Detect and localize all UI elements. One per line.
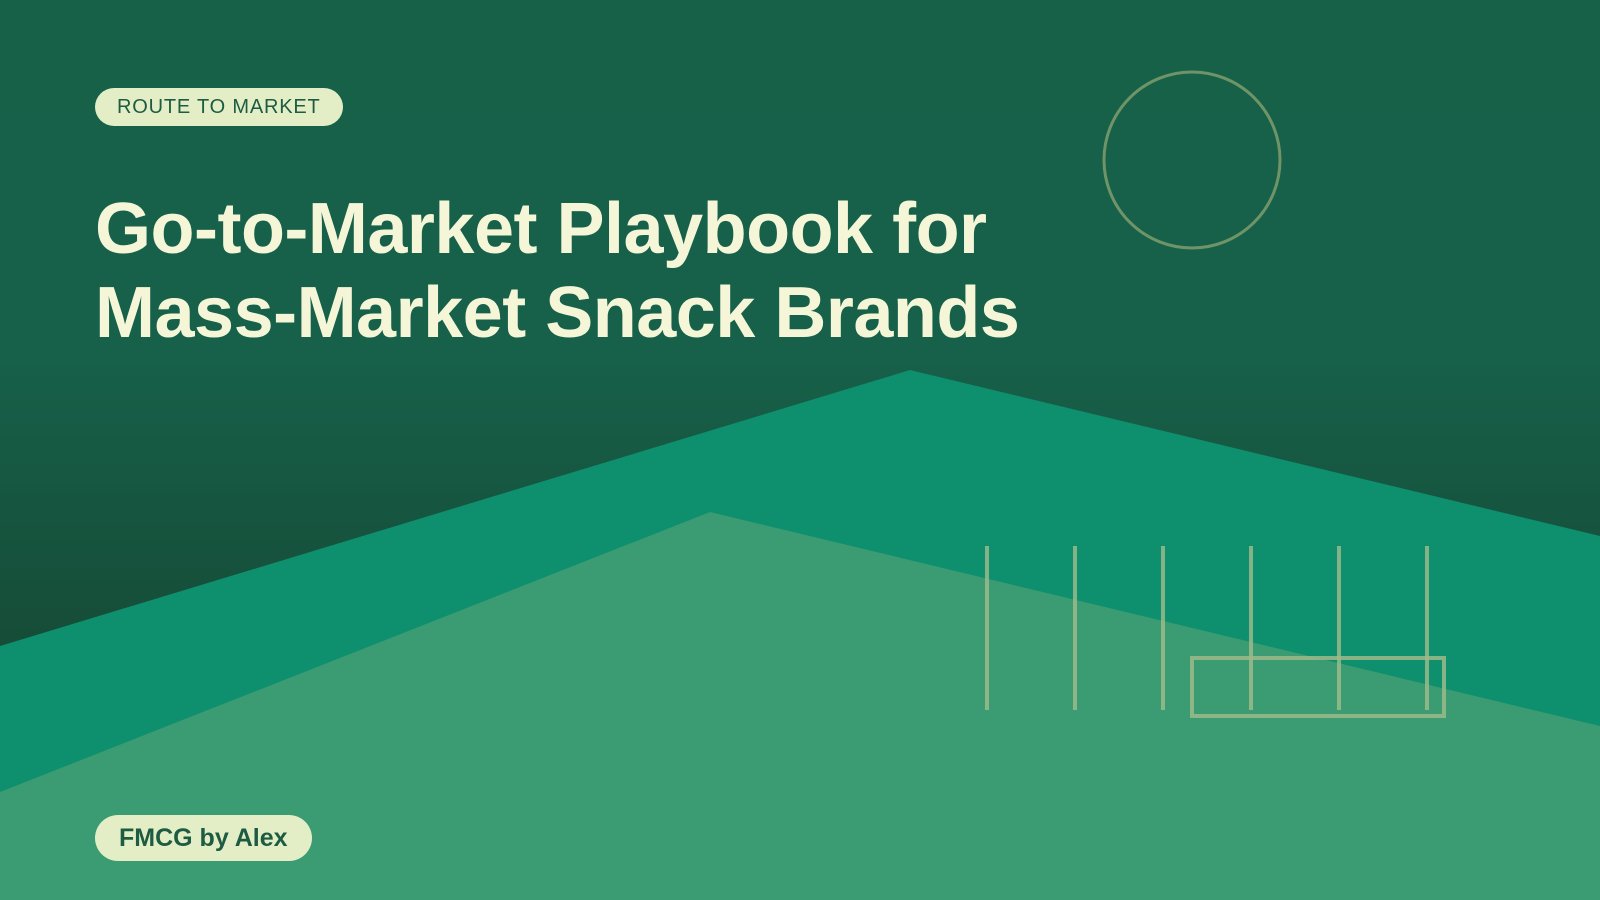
brand-badge: FMCG by Alex	[95, 815, 312, 861]
line-art-decoration	[0, 0, 1600, 900]
vertical-tick-lines	[987, 546, 1427, 710]
title-line-1: Go-to-Market Playbook for	[95, 188, 1095, 272]
eyebrow-label: ROUTE TO MARKET	[117, 96, 321, 119]
title-line-2: Mass-Market Snack Brands	[95, 272, 1095, 356]
page-title: Go-to-Market Playbook for Mass-Market Sn…	[95, 188, 1095, 355]
presentation-slide: ROUTE TO MARKET Go-to-Market Playbook fo…	[0, 0, 1600, 900]
brand-label: FMCG by Alex	[119, 824, 288, 853]
rectangle-outline-shape	[1192, 658, 1444, 716]
circle-outline-icon	[1104, 72, 1280, 248]
eyebrow-badge: ROUTE TO MARKET	[95, 88, 343, 126]
chevron-decoration	[0, 0, 1600, 900]
